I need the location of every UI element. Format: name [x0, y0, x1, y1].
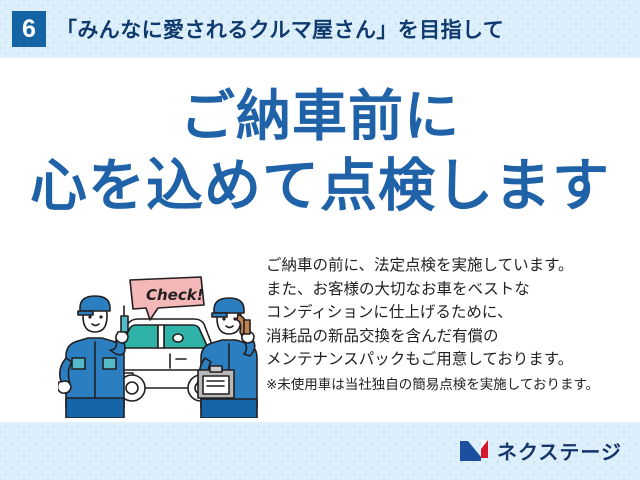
page-header: 6 「みんなに愛されるクルマ屋さん」を目指して [0, 0, 640, 58]
body-copy: ご納車の前に、法定点検を実施しています。 また、お客様の大切なお車をベストな コ… [266, 254, 626, 395]
mechanics-illustration: .ol{fill:none;stroke:#231f20;stroke-widt… [58, 258, 263, 418]
body-note: ※未使用車は当社独自の簡易点検を実施しております。 [266, 375, 626, 396]
brand-name: ネクステージ [497, 436, 622, 465]
body-line: また、お客様の大切なお車をベストな [266, 278, 626, 302]
body-line: コンディションに仕上げるために、 [266, 301, 626, 325]
headline-line-2: 心を込めて点検します [0, 153, 640, 220]
step-number-badge: 6 [12, 11, 46, 47]
headline-line-1: ご納車前に [0, 84, 640, 149]
nextage-n-logo-icon [458, 438, 490, 463]
body-line: 消耗品の新品交換を含んだ有償の [266, 325, 626, 349]
headline: ご納車前に 心を込めて点検します [0, 84, 640, 220]
content-panel: ご納車前に 心を込めて点検します ご納車の前に、法定点検を実施しています。 また… [0, 58, 640, 422]
brand-logo: ネクステージ [458, 436, 622, 465]
check-speech-bubble: Check! [130, 277, 204, 320]
page-title: 「みんなに愛されるクルマ屋さん」を目指して [56, 14, 504, 44]
promo-page: 6 「みんなに愛されるクルマ屋さん」を目指して ご納車前に 心を込めて点検します… [0, 0, 640, 480]
body-line: ご納車の前に、法定点検を実施しています。 [266, 254, 626, 278]
mechanics-with-van-graphic: .ol{fill:none;stroke:#231f20;stroke-widt… [58, 258, 263, 418]
body-line: メンテナンスパックもご用意しております。 [266, 348, 626, 372]
page-footer: ネクステージ [0, 422, 640, 480]
mechanic-right-figure [198, 298, 257, 418]
speech-bubble-label: Check! [146, 286, 204, 304]
mechanic-left-figure [58, 296, 128, 418]
